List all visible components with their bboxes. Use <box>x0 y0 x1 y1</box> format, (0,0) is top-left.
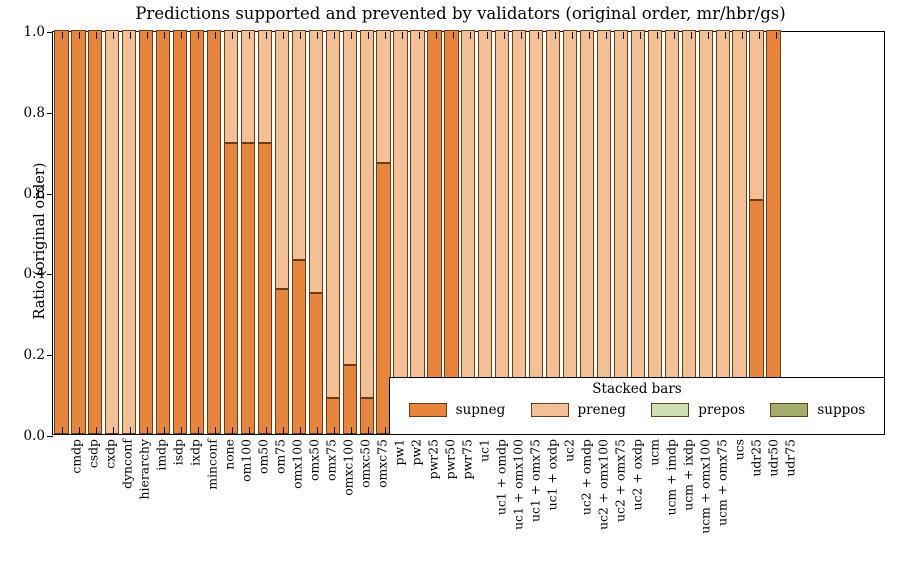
x-axis-tick <box>334 427 335 434</box>
empty-slot <box>782 32 799 434</box>
stacked-bar[interactable] <box>546 32 560 434</box>
stacked-bar[interactable] <box>529 32 543 434</box>
x-axis-tick-label: pw2 <box>408 439 423 465</box>
y-axis-tick <box>47 194 53 195</box>
bar-segment-supneg[interactable] <box>139 30 153 434</box>
bar-segment-preneg[interactable] <box>376 30 390 163</box>
x-axis-tick <box>470 32 471 39</box>
x-axis-tick <box>130 32 131 39</box>
x-axis-tick-label: isdp <box>170 439 185 465</box>
bar-segment-preneg[interactable] <box>326 30 340 398</box>
bar-segment-preneg[interactable] <box>716 30 730 434</box>
stacked-bar[interactable] <box>766 32 780 434</box>
stacked-bar[interactable] <box>682 32 696 434</box>
bar-slot[interactable] <box>87 32 104 434</box>
plot-area: 0.00.20.40.60.81.0 <box>52 31 885 435</box>
legend-label: suppos <box>817 402 865 418</box>
stacked-bar[interactable] <box>190 32 204 434</box>
bar-slot[interactable] <box>138 32 155 434</box>
x-axis-tick <box>657 32 658 39</box>
x-axis-tick <box>130 427 131 434</box>
stacked-bar[interactable] <box>580 32 594 434</box>
bar-slot[interactable] <box>358 32 375 434</box>
bar-segment-preneg[interactable] <box>699 30 713 434</box>
x-axis-tick <box>368 427 369 434</box>
x-axis-tick <box>215 427 216 434</box>
x-axis-tick <box>640 32 641 39</box>
figure: Predictions supported and prevented by v… <box>0 0 921 562</box>
bar-segment-preneg[interactable] <box>580 30 594 434</box>
bar-slot[interactable] <box>714 32 731 434</box>
bar-segment-preneg[interactable] <box>732 30 746 420</box>
bar-segment-supneg[interactable] <box>71 30 85 434</box>
bar-segment-preneg[interactable] <box>461 30 475 434</box>
bar-segment-preneg[interactable] <box>631 30 645 434</box>
x-axis-tick <box>691 32 692 39</box>
stacked-bar[interactable] <box>410 32 424 434</box>
x-axis-tick <box>436 32 437 39</box>
x-axis-tick <box>759 32 760 39</box>
x-axis-tick <box>266 32 267 39</box>
bar-slot[interactable] <box>443 32 460 434</box>
bar-segment-supneg[interactable] <box>444 30 458 434</box>
legend: Stacked bars supnegprenegprepossuppos <box>389 377 885 435</box>
x-axis-tick-label: om100 <box>238 439 253 482</box>
x-axis-tick <box>623 32 624 39</box>
stacked-bar[interactable] <box>292 32 306 434</box>
bar-segment-supneg[interactable] <box>207 30 221 434</box>
x-axis-tick-label: cxdp <box>102 439 117 469</box>
x-axis-tick-label: uc1 + oxdp <box>544 439 559 510</box>
bar-slot[interactable] <box>70 32 87 434</box>
y-axis-tick-label: 0.8 <box>24 105 45 121</box>
x-axis-tick <box>79 427 80 434</box>
x-axis-tick <box>147 427 148 434</box>
page-title: Predictions supported and prevented by v… <box>0 4 921 23</box>
bar-segment-supneg[interactable] <box>275 289 289 434</box>
bar-segment-preneg[interactable] <box>749 30 763 200</box>
legend-item-prepos[interactable]: prepos <box>651 402 745 418</box>
x-axis-tick <box>453 32 454 39</box>
bar-slot[interactable] <box>596 32 613 434</box>
bar-slot[interactable] <box>680 32 697 434</box>
x-axis-tick <box>555 32 556 39</box>
x-axis-tick-label: pwr25 <box>425 439 440 479</box>
stacked-bar[interactable] <box>309 32 323 434</box>
x-axis-tick-label: omxc100 <box>340 439 355 496</box>
x-axis-tick <box>572 32 573 39</box>
x-axis-tick-label: uc1 + omdp <box>493 439 508 515</box>
x-axis-tick <box>385 427 386 434</box>
empty-slot <box>833 32 850 434</box>
legend-label: prepos <box>698 402 745 418</box>
bar-slot[interactable] <box>172 32 189 434</box>
bar-segment-supneg[interactable] <box>427 30 441 434</box>
x-axis-tick-label: ucm + omx75 <box>714 439 729 526</box>
stacked-bar[interactable] <box>444 32 458 434</box>
stacked-bar[interactable] <box>478 32 492 434</box>
y-axis-tick-label: 1.0 <box>24 24 45 40</box>
x-axis-tick-label: pw1 <box>391 439 406 465</box>
x-axis-tick <box>300 32 301 39</box>
bar-slot[interactable] <box>104 32 121 434</box>
x-axis-tick <box>742 32 743 39</box>
bar-segment-preneg[interactable] <box>292 30 306 260</box>
stacked-bar[interactable] <box>563 32 577 434</box>
bar-slot[interactable] <box>494 32 511 434</box>
stacked-bar[interactable] <box>699 32 713 434</box>
x-axis-tick-label: uc2 + omx75 <box>612 439 627 522</box>
x-axis-tick <box>300 427 301 434</box>
legend-swatch-preneg <box>531 403 569 417</box>
x-axis-tick <box>351 32 352 39</box>
bar-segment-preneg[interactable] <box>478 30 492 434</box>
y-axis-tick <box>47 274 53 275</box>
legend-label: supneg <box>456 402 506 418</box>
bar-slot[interactable] <box>426 32 443 434</box>
bar-slot[interactable] <box>528 32 545 434</box>
bar-slot[interactable] <box>511 32 528 434</box>
bar-segment-preneg[interactable] <box>258 30 272 143</box>
stacked-bar[interactable] <box>512 32 526 434</box>
stacked-bar[interactable] <box>88 32 102 434</box>
x-axis-tick <box>538 32 539 39</box>
bar-segment-preneg[interactable] <box>122 30 136 434</box>
bar-slot[interactable] <box>341 32 358 434</box>
bar-slot[interactable] <box>477 32 494 434</box>
bar-slot[interactable] <box>579 32 596 434</box>
stacked-bar[interactable] <box>665 32 679 434</box>
x-axis-tick <box>351 427 352 434</box>
x-axis-tick <box>96 427 97 434</box>
bar-segment-supneg[interactable] <box>258 143 272 434</box>
bar-segment-supneg[interactable] <box>88 30 102 434</box>
stacked-bar[interactable] <box>495 32 509 434</box>
x-axis-tick-label: uc2 + omdp <box>578 439 593 515</box>
stacked-bar[interactable] <box>393 32 407 434</box>
stacked-bar[interactable] <box>207 32 221 434</box>
legend-swatch-suppos <box>770 403 808 417</box>
bar-slot[interactable] <box>223 32 240 434</box>
stacked-bar[interactable] <box>461 32 475 434</box>
bar-segment-supneg[interactable] <box>309 293 323 434</box>
x-axis-tick <box>181 32 182 39</box>
bar-slot[interactable] <box>765 32 782 434</box>
x-axis-tick <box>113 427 114 434</box>
y-axis-tick <box>47 355 53 356</box>
x-axis-tick <box>521 32 522 39</box>
x-axis-tick <box>368 32 369 39</box>
bar-segment-preneg[interactable] <box>393 30 407 434</box>
stacked-bar[interactable] <box>732 32 746 434</box>
x-axis-tick <box>249 427 250 434</box>
bar-segment-supneg[interactable] <box>156 30 170 434</box>
x-axis-tick <box>215 32 216 39</box>
x-axis-tick-label: ucm + ixdp <box>680 439 695 511</box>
bar-slot[interactable] <box>731 32 748 434</box>
bar-segment-preneg[interactable] <box>495 30 509 434</box>
x-axis-tick <box>589 32 590 39</box>
x-axis-tick-label: pwr75 <box>459 439 474 479</box>
bar-slot[interactable] <box>239 32 256 434</box>
stacked-bar[interactable] <box>360 32 374 434</box>
x-axis-tick-label: udr50 <box>765 439 780 477</box>
bar-slot[interactable] <box>663 32 680 434</box>
empty-slot <box>850 32 867 434</box>
bar-segment-supneg[interactable] <box>173 30 187 434</box>
legend-label: preneg <box>578 402 626 418</box>
x-axis-tick <box>147 32 148 39</box>
stacked-bar[interactable] <box>139 32 153 434</box>
x-axis-tick <box>487 32 488 39</box>
x-axis-tick <box>62 32 63 39</box>
x-axis-tick <box>181 427 182 434</box>
x-axis-tick <box>164 427 165 434</box>
stacked-bar[interactable] <box>105 32 119 434</box>
stacked-bar[interactable] <box>716 32 730 434</box>
x-axis-tick <box>283 427 284 434</box>
x-axis-tick <box>266 427 267 434</box>
x-axis-tick-label: uc1 + omx100 <box>510 439 525 530</box>
x-axis-labels: cmdpcsdpcxdpdynconfhierarchyimdpisdpixdp… <box>52 439 885 562</box>
x-axis-tick <box>317 427 318 434</box>
x-axis-tick-label: uc1 <box>476 439 491 462</box>
x-axis-tick-label: omxc75 <box>374 439 389 488</box>
empty-slot <box>799 32 816 434</box>
x-axis-tick-label: uc1 + omx75 <box>527 439 542 522</box>
x-axis-tick-label: om75 <box>272 439 287 474</box>
y-axis-tick-label: 0.0 <box>24 428 45 444</box>
x-axis-tick <box>674 32 675 39</box>
bar-segment-preneg[interactable] <box>309 30 323 293</box>
legend-swatch-prepos <box>651 403 689 417</box>
bar-slot[interactable] <box>155 32 172 434</box>
x-axis-tick-label: uc2 + omx100 <box>595 439 610 530</box>
y-axis-tick <box>47 32 53 33</box>
bar-slot[interactable] <box>629 32 646 434</box>
stacked-bar[interactable] <box>614 32 628 434</box>
bar-segment-preneg[interactable] <box>241 30 255 143</box>
stacked-bar[interactable] <box>173 32 187 434</box>
bar-segment-supneg[interactable] <box>190 30 204 434</box>
bar-segment-supneg[interactable] <box>54 30 68 434</box>
empty-slot <box>867 32 884 434</box>
stacked-bar[interactable] <box>343 32 357 434</box>
bar-slot[interactable] <box>409 32 426 434</box>
y-axis-tick-label: 0.6 <box>24 186 45 202</box>
x-axis-tick-label: ucs <box>731 439 746 460</box>
x-axis-tick <box>725 32 726 39</box>
x-axis-tick <box>402 32 403 39</box>
x-axis-tick-label: omx50 <box>306 439 321 481</box>
bar-slot[interactable] <box>375 32 392 434</box>
x-axis-tick-label: none <box>221 439 236 470</box>
bar-slot[interactable] <box>189 32 206 434</box>
bar-segment-preneg[interactable] <box>597 30 611 434</box>
x-axis-tick <box>419 32 420 39</box>
stacked-bar[interactable] <box>749 32 763 434</box>
bar-slot[interactable] <box>392 32 409 434</box>
x-axis-tick-label: omx100 <box>289 439 304 489</box>
stacked-bar[interactable] <box>156 32 170 434</box>
bar-segment-supneg[interactable] <box>224 143 238 434</box>
stacked-bar[interactable] <box>275 32 289 434</box>
stacked-bar[interactable] <box>71 32 85 434</box>
bars-container <box>53 32 884 434</box>
bar-slot[interactable] <box>697 32 714 434</box>
stacked-bar[interactable] <box>122 32 136 434</box>
legend-item-suppos[interactable]: suppos <box>770 402 865 418</box>
x-axis-tick-label: uc2 + oxdp <box>629 439 644 510</box>
bar-slot[interactable] <box>53 32 70 434</box>
bar-segment-preneg[interactable] <box>648 30 662 434</box>
x-axis-tick <box>96 32 97 39</box>
x-axis-tick-label: ucm + imdp <box>663 439 678 516</box>
x-axis-tick <box>79 32 80 39</box>
x-axis-tick <box>385 32 386 39</box>
x-axis-tick <box>606 32 607 39</box>
x-axis-tick <box>198 427 199 434</box>
x-axis-tick <box>249 32 250 39</box>
x-axis-tick <box>232 32 233 39</box>
bar-slot[interactable] <box>121 32 138 434</box>
x-axis-tick <box>334 32 335 39</box>
stacked-bar[interactable] <box>258 32 272 434</box>
x-axis-tick-label: pwr50 <box>442 439 457 479</box>
x-axis-tick-label: omxc50 <box>357 439 372 488</box>
bar-slot[interactable] <box>206 32 223 434</box>
stacked-bar[interactable] <box>224 32 238 434</box>
bar-segment-preneg[interactable] <box>224 30 238 143</box>
stacked-bar[interactable] <box>376 32 390 434</box>
bar-slot[interactable] <box>460 32 477 434</box>
bar-segment-preneg[interactable] <box>682 30 696 434</box>
y-axis-tick-label: 0.4 <box>24 266 45 282</box>
legend-item-preneg[interactable]: preneg <box>531 402 626 418</box>
bar-segment-preneg[interactable] <box>410 30 424 398</box>
x-axis-tick <box>113 32 114 39</box>
stacked-bar[interactable] <box>631 32 645 434</box>
x-axis-tick-label: minconf <box>204 439 219 490</box>
y-axis-label: Ratio (original order) <box>32 111 48 371</box>
x-axis-tick-label: ixdp <box>187 439 202 466</box>
x-axis-tick <box>232 427 233 434</box>
bar-slot[interactable] <box>256 32 273 434</box>
bar-segment-supneg[interactable] <box>241 143 255 434</box>
bar-segment-preneg[interactable] <box>512 30 526 434</box>
x-axis-tick <box>317 32 318 39</box>
bar-segment-preneg[interactable] <box>563 30 577 434</box>
bar-segment-preneg[interactable] <box>343 30 357 365</box>
bar-segment-preneg[interactable] <box>360 30 374 398</box>
legend-swatch-supneg <box>409 403 447 417</box>
legend-items: supnegprenegprepossuppos <box>390 402 884 418</box>
stacked-bar[interactable] <box>54 32 68 434</box>
stacked-bar[interactable] <box>326 32 340 434</box>
x-axis-tick-label: udr25 <box>748 439 763 477</box>
legend-title: Stacked bars <box>390 381 884 397</box>
bar-segment-supneg[interactable] <box>343 365 357 434</box>
bar-segment-supneg[interactable] <box>292 260 306 434</box>
x-axis-tick-label: ucm <box>646 439 661 466</box>
x-axis-tick-label: udr75 <box>782 439 797 477</box>
x-axis-tick <box>708 32 709 39</box>
legend-item-supneg[interactable]: supneg <box>409 402 506 418</box>
y-axis-tick <box>47 436 53 437</box>
bar-segment-preneg[interactable] <box>665 30 679 434</box>
bar-segment-preneg[interactable] <box>105 30 119 434</box>
x-axis-tick-label: csdp <box>85 439 100 468</box>
stacked-bar[interactable] <box>241 32 255 434</box>
empty-slot <box>816 32 833 434</box>
bar-slot[interactable] <box>562 32 579 434</box>
bar-segment-preneg[interactable] <box>614 30 628 434</box>
stacked-bar[interactable] <box>597 32 611 434</box>
x-axis-tick-label: ucm + omx100 <box>697 439 712 534</box>
bar-slot[interactable] <box>612 32 629 434</box>
stacked-bar[interactable] <box>427 32 441 434</box>
bar-slot[interactable] <box>273 32 290 434</box>
bar-slot[interactable] <box>290 32 307 434</box>
x-axis-tick-label: cmdp <box>68 439 83 474</box>
x-axis-tick <box>198 32 199 39</box>
x-axis-tick-label: uc2 <box>561 439 576 462</box>
bar-segment-preneg[interactable] <box>529 30 543 434</box>
bar-slot[interactable] <box>307 32 324 434</box>
x-axis-tick <box>62 427 63 434</box>
bar-segment-preneg[interactable] <box>546 30 560 434</box>
bar-slot[interactable] <box>748 32 765 434</box>
bar-segment-supneg[interactable] <box>766 30 780 434</box>
y-axis-tick <box>47 113 53 114</box>
x-axis-tick-label: hierarchy <box>136 439 151 499</box>
x-axis-tick-label: imdp <box>153 439 168 471</box>
bar-slot[interactable] <box>324 32 341 434</box>
x-axis-tick-label: dynconf <box>119 439 134 489</box>
bar-slot[interactable] <box>646 32 663 434</box>
x-axis-tick <box>776 32 777 39</box>
stacked-bar[interactable] <box>648 32 662 434</box>
x-axis-tick <box>164 32 165 39</box>
x-axis-tick <box>283 32 284 39</box>
x-axis-tick-label: omx75 <box>323 439 338 481</box>
bar-segment-preneg[interactable] <box>275 30 289 289</box>
bar-slot[interactable] <box>545 32 562 434</box>
y-axis-tick-label: 0.2 <box>24 347 45 363</box>
x-axis-tick <box>504 32 505 39</box>
x-axis-tick-label: om50 <box>255 439 270 474</box>
